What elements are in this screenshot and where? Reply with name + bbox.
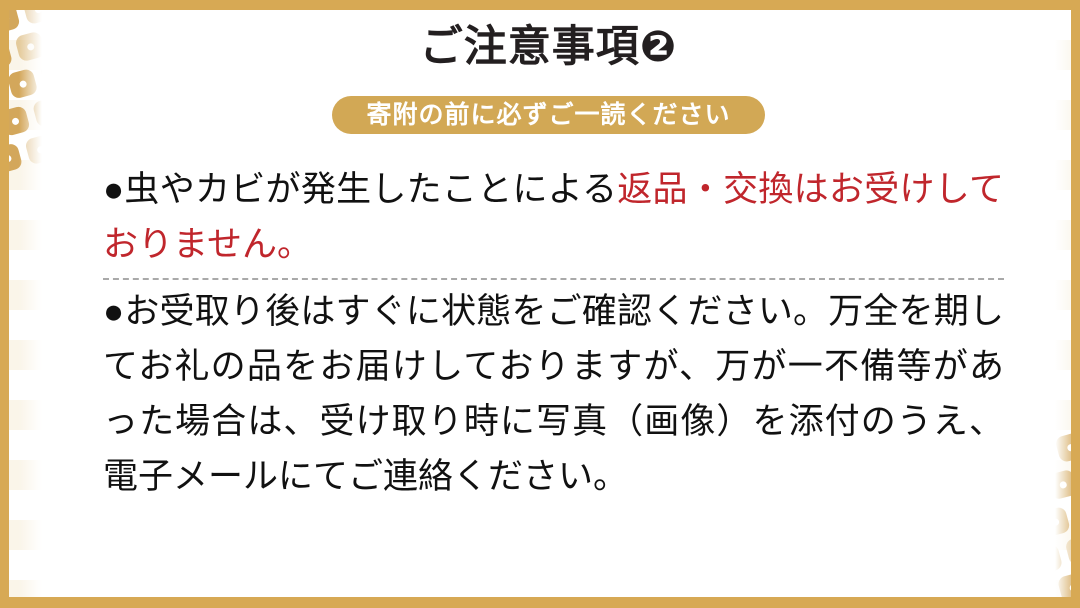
notice-page: ご注意事項❷ 寄附の前に必ずご一読ください ●虫やカビが発生したことによる返品・… [0,0,1080,608]
notice-bullet-icon: ● [103,292,124,331]
read-before-donating-badge: 寄附の前に必ずご一読ください [332,96,764,134]
notice-text-plain: 虫やカビが発生したことによる [124,170,617,209]
page-title: ご注意事項❷ [45,22,1052,74]
banner-row: 寄附の前に必ずご一読ください [45,96,1052,134]
notice-item: ●虫やカビが発生したことによる返品・交換はお受けしておりません。 [103,162,1004,272]
notice-text-plain: お受取り後はすぐに状態をご確認ください。万全を期してお礼の品をお届けしております… [103,292,1004,496]
notice-item: ●お受取り後はすぐに状態をご確認ください。万全を期してお礼の品をお届けしておりま… [103,284,1004,504]
notice-list: ●虫やカビが発生したことによる返品・交換はお受けしておりません。 ●お受取り後は… [103,162,1004,504]
notice-divider [103,278,1004,280]
pattern-tile-icon [9,39,13,71]
content-card: ご注意事項❷ 寄附の前に必ずご一読ください ●虫やカビが発生したことによる返品・… [45,10,1052,597]
notice-bullet-icon: ● [103,170,124,209]
